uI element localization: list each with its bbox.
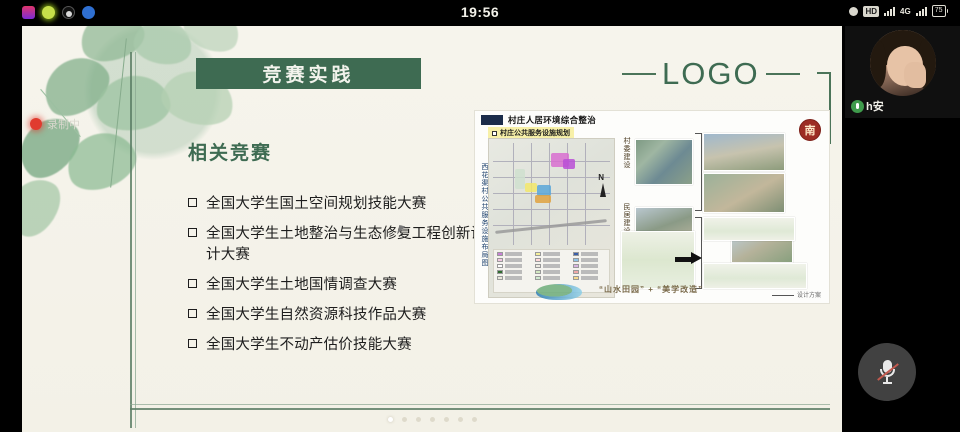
poster-footer: “山水田园” + “美学改造” 设计方案	[481, 279, 823, 301]
compass-icon: N	[598, 173, 604, 182]
signal-icon-secondary	[916, 6, 927, 16]
battery-icon: 75	[932, 5, 948, 17]
poster-slogan: “山水田园” + “美学改造”	[599, 284, 703, 295]
app-icon-green	[42, 6, 55, 19]
brace-upper	[695, 133, 702, 211]
recording-indicator: 录制中	[30, 116, 80, 132]
status-bar: 19:56 HD 4G 75	[0, 0, 960, 26]
page-dot[interactable]	[472, 417, 477, 422]
project-poster-image[interactable]: 村庄人居环境综合整治 村庄公共服务设施规划 西花渠村公共服务设施布局图	[474, 110, 830, 304]
bullet-square-icon	[188, 228, 197, 237]
network-label: 4G	[900, 7, 911, 16]
frame-vertical-line-thin	[135, 52, 136, 428]
frame-horizontal-line-thin	[130, 404, 830, 405]
avatar-hair-left	[870, 40, 886, 88]
status-bar-app-icons	[22, 6, 95, 19]
institution-seal-icon: 南	[799, 119, 821, 141]
microphone-icon	[851, 100, 864, 113]
village-plan-map: N	[488, 138, 615, 298]
rendering-landscape-section	[703, 217, 795, 241]
screen-root: 竞赛实践 LOGO 相关竞赛 全国大学生国土空间规划技能大赛 全国大学生土地整治…	[0, 0, 960, 432]
list-item: 全国大学生不动产估价技能大赛	[188, 335, 488, 356]
participant-name-row: h安	[851, 98, 884, 114]
poster-logo-icon	[536, 284, 582, 300]
list-item-label: 全国大学生不动产估价技能大赛	[206, 335, 412, 356]
page-dot[interactable]	[430, 417, 435, 422]
list-item: 全国大学生自然资源科技作品大赛	[188, 305, 488, 326]
list-item: 全国大学生国土空间规划技能大赛	[188, 194, 488, 215]
list-item-label: 全国大学生土地国情调查大赛	[206, 275, 397, 296]
list-item-label: 全国大学生自然资源科技作品大赛	[206, 305, 427, 326]
logo-rule-left	[622, 73, 656, 75]
page-dot-active[interactable]	[388, 417, 393, 422]
slide-title: 竞赛实践	[262, 60, 354, 87]
hd-icon: HD	[863, 6, 879, 17]
app-icon-blue	[82, 6, 95, 19]
list-item-label: 全国大学生土地整治与生态修复工程创新设计大赛	[206, 224, 488, 266]
app-icon-pink	[22, 6, 35, 19]
bullet-square-icon	[188, 339, 197, 348]
list-item-label: 全国大学生国土空间规划技能大赛	[206, 194, 427, 215]
photo-pavilion	[703, 173, 785, 213]
battery-level: 75	[932, 5, 946, 17]
page-dot[interactable]	[402, 417, 407, 422]
status-bar-clock: 19:56	[0, 4, 960, 20]
slide-title-banner: 竞赛实践	[196, 58, 421, 89]
page-dot[interactable]	[458, 417, 463, 422]
page-dot[interactable]	[416, 417, 421, 422]
photo-aerial-view	[635, 139, 693, 185]
poster-header: 村庄人居环境综合整治	[481, 114, 596, 126]
arrow-bar	[675, 257, 691, 262]
bullet-square-icon	[188, 309, 197, 318]
status-bar-indicators: HD 4G 75	[849, 5, 948, 17]
slide-page-dots[interactable]	[22, 417, 842, 422]
alarm-icon	[849, 7, 858, 16]
presentation-slide[interactable]: 竞赛实践 LOGO 相关竞赛 全国大学生国土空间规划技能大赛 全国大学生土地整治…	[22, 26, 842, 432]
bullet-square-icon	[188, 279, 197, 288]
poster-header-block	[481, 115, 503, 125]
record-dot-icon	[30, 118, 42, 130]
frame-horizontal-line	[130, 408, 830, 410]
section-subheading: 相关竞赛	[188, 138, 272, 165]
frame-vertical-line	[130, 52, 132, 428]
poster-legend-label: 村庄公共服务设施规划	[500, 128, 570, 138]
page-dot[interactable]	[444, 417, 449, 422]
list-item: 全国大学生土地整治与生态修复工程创新设计大赛	[188, 224, 488, 266]
logo-block: LOGO	[622, 56, 837, 92]
mute-toggle-button[interactable]	[858, 343, 916, 401]
recording-label: 录制中	[47, 116, 80, 132]
microphone-muted-icon	[880, 360, 895, 384]
legend-square-icon	[492, 131, 497, 136]
poster-header-title: 村庄人居环境综合整治	[508, 114, 596, 126]
logo-rule-right	[766, 73, 800, 75]
arrow-icon	[691, 252, 702, 264]
signal-icon	[884, 6, 895, 16]
participant-name: h安	[866, 98, 884, 114]
video-participant-tile[interactable]: h安	[845, 26, 960, 118]
bullet-square-icon	[188, 198, 197, 207]
list-item: 全国大学生土地国情调查大赛	[188, 275, 488, 296]
logo-text: LOGO	[656, 57, 766, 91]
photo-village-overview	[703, 133, 785, 171]
label-village-build: 村委建设	[621, 137, 631, 177]
battery-tip	[947, 9, 949, 13]
bullet-list: 全国大学生国土空间规划技能大赛 全国大学生土地整治与生态修复工程创新设计大赛 全…	[188, 194, 488, 365]
poster-credit: 设计方案	[772, 290, 821, 299]
avatar-hand	[904, 62, 926, 88]
avatar	[870, 30, 936, 96]
app-icon-dark	[62, 6, 75, 19]
